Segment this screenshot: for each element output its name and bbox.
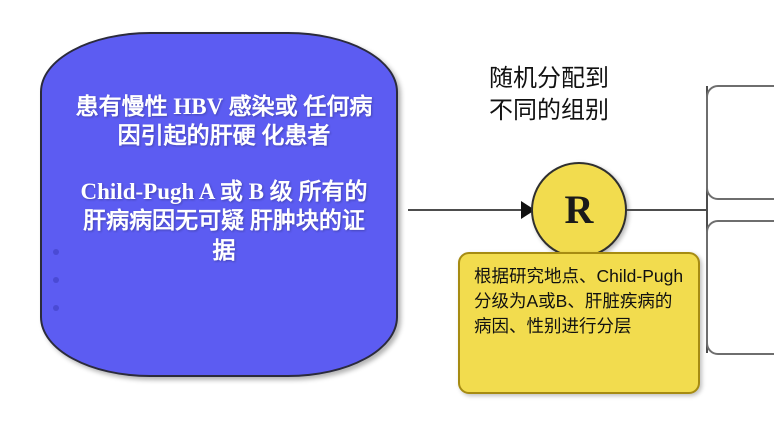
branch-stem-line [627, 209, 707, 211]
randomization-node-letter: R [565, 190, 594, 230]
eligibility-spacer [72, 151, 376, 177]
treatment-arm-top-label [708, 87, 774, 103]
randomization-node: R [531, 162, 627, 258]
treatment-arm-bottom-label [708, 222, 774, 238]
eligibility-text-block: 患有慢性 HBV 感染或 任何病因引起的肝硬 化患者 Child-Pugh A … [42, 34, 396, 375]
bullet-dot-icon [53, 277, 59, 283]
eligibility-criteria-shape: 患有慢性 HBV 感染或 任何病因引起的肝硬 化患者 Child-Pugh A … [40, 32, 398, 377]
eligibility-criteria-group-1: 患有慢性 HBV 感染或 任何病因引起的肝硬 化患者 [72, 92, 376, 151]
arrow-to-randomization-line [408, 209, 526, 211]
randomization-label: 随机分配到 不同的组别 [489, 63, 699, 126]
flowchart-canvas: 患有慢性 HBV 感染或 任何病因引起的肝硬 化患者 Child-Pugh A … [0, 0, 774, 436]
bullet-dot-icon [53, 249, 59, 255]
treatment-arm-box-top [706, 85, 774, 200]
bullet-dot-icon [53, 305, 59, 311]
eligibility-criteria-group-2: Child-Pugh A 或 B 级 所有的肝病病因无可疑 肝肿块的证据 [72, 177, 376, 265]
treatment-arm-box-bottom [706, 220, 774, 355]
stratification-note-box: 根据研究地点、Child-Pugh 分级为A或B、肝脏疾病的病因、性别进行分层 [458, 252, 700, 394]
